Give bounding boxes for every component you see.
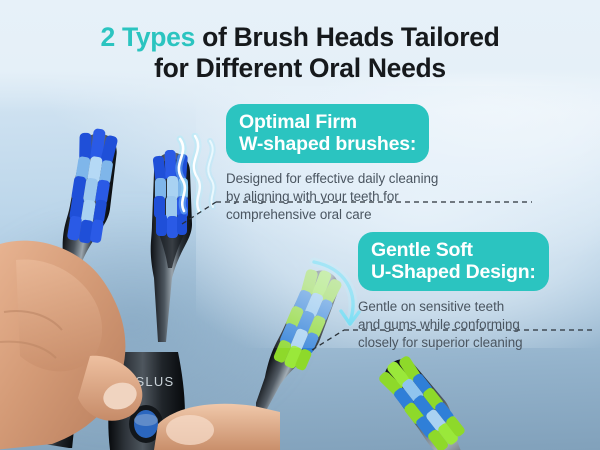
callout-firm-badge: Optimal Firm W-shaped brushes:	[226, 104, 429, 163]
callout-firm-body: Designed for effective daily cleaning by…	[226, 170, 438, 223]
product-infographic: COSLUS	[0, 0, 600, 450]
callout-optimal-firm: Optimal Firm W-shaped brushes: Designed …	[226, 104, 438, 224]
headline-line2: for Different Oral Needs	[0, 53, 600, 84]
thumb-pressing-power-button	[150, 400, 280, 450]
callout-soft-body: Gentle on sensitive teeth and gums while…	[358, 298, 549, 351]
callout-soft-badge: Gentle Soft U-Shaped Design:	[358, 232, 549, 291]
callout-gentle-soft: Gentle Soft U-Shaped Design: Gentle on s…	[358, 232, 549, 352]
headline-accent: 2 Types	[100, 22, 195, 52]
brush-head-lower-green	[366, 344, 566, 450]
headline-line1-rest: of Brush Heads Tailored	[195, 22, 499, 52]
page-title: 2 Types of Brush Heads Tailored for Diff…	[0, 22, 600, 85]
